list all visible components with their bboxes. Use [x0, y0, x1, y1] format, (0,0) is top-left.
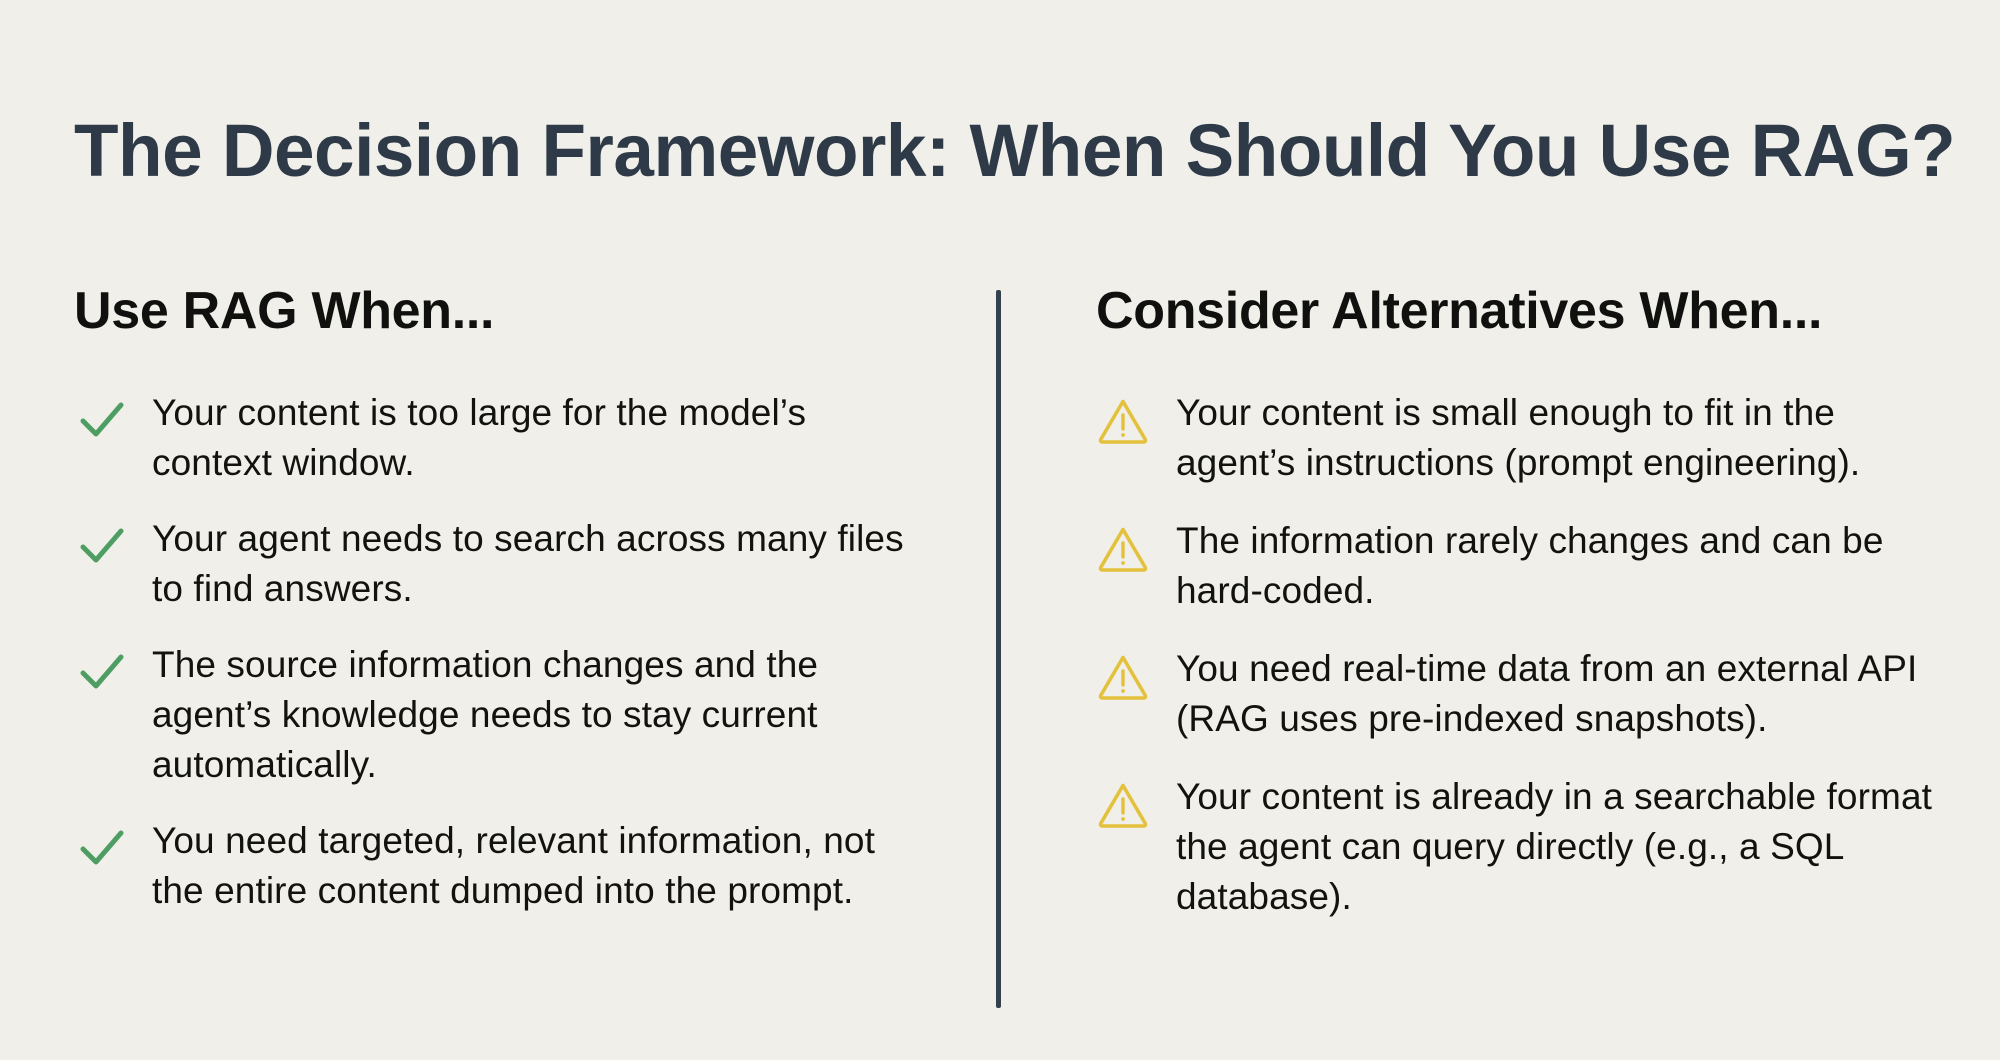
list-item: You need real-time data from an external…	[1096, 644, 1956, 744]
warning-triangle-icon	[1096, 522, 1150, 576]
list-item: Your content is small enough to fit in t…	[1096, 388, 1956, 488]
check-icon	[74, 644, 130, 700]
column-heading-right: Consider Alternatives When...	[1096, 282, 1956, 340]
list-item-label: Your agent needs to search across many f…	[152, 514, 912, 614]
warning-triangle-icon	[1096, 650, 1150, 704]
check-icon	[74, 820, 130, 876]
slide-root: The Decision Framework: When Should You …	[0, 0, 2000, 1060]
list-item-label: You need targeted, relevant information,…	[152, 816, 912, 916]
list-item: Your content is too large for the model’…	[74, 388, 934, 488]
list-item-label: Your content is already in a searchable …	[1176, 772, 1956, 922]
bullet-list-right: Your content is small enough to fit in t…	[1096, 388, 1956, 922]
list-item: The source information changes and the a…	[74, 640, 934, 790]
list-item: Your content is already in a searchable …	[1096, 772, 1956, 922]
list-item-label: The source information changes and the a…	[152, 640, 912, 790]
list-item: The information rarely changes and can b…	[1096, 516, 1956, 616]
columns-container: Use RAG When... Your content is too larg…	[0, 282, 2000, 1042]
list-item-label: Your content is too large for the model’…	[152, 388, 912, 488]
column-heading-left: Use RAG When...	[74, 282, 934, 340]
list-item: You need targeted, relevant information,…	[74, 816, 934, 916]
list-item-label: You need real-time data from an external…	[1176, 644, 1956, 744]
column-use-rag: Use RAG When... Your content is too larg…	[74, 282, 934, 942]
list-item-label: The information rarely changes and can b…	[1176, 516, 1956, 616]
list-item-label: Your content is small enough to fit in t…	[1176, 388, 1956, 488]
list-item: Your agent needs to search across many f…	[74, 514, 934, 614]
bullet-list-left: Your content is too large for the model’…	[74, 388, 934, 916]
warning-triangle-icon	[1096, 394, 1150, 448]
page-title: The Decision Framework: When Should You …	[74, 108, 1926, 194]
check-icon	[74, 518, 130, 574]
check-icon	[74, 392, 130, 448]
warning-triangle-icon	[1096, 778, 1150, 832]
column-consider-alternatives: Consider Alternatives When... Your conte…	[1096, 282, 1956, 950]
